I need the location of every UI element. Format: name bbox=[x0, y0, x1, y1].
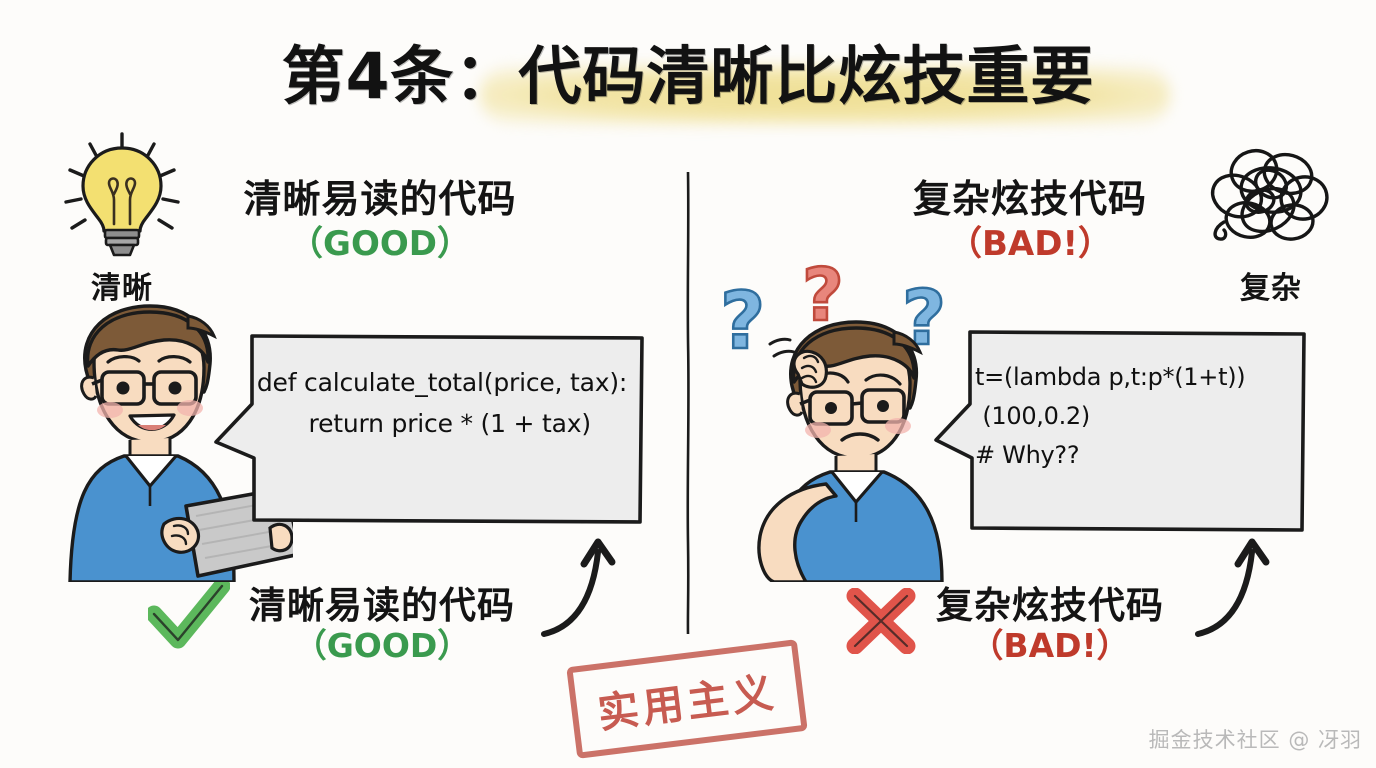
tangle-icon-caption: 复杂 bbox=[1196, 263, 1346, 307]
right-code-bubble-text: t=(lambda p,t:p*(1+t)) (100,0.2) # Why?? bbox=[975, 358, 1305, 475]
left-panel-heading: 清晰易读的代码 （GOOD） bbox=[170, 178, 590, 264]
curved-arrow-up-right-panel bbox=[1190, 536, 1280, 646]
left-bottom-caption: 清晰易读的代码 （GOOD） bbox=[212, 585, 552, 666]
question-mark-blue-left: ? bbox=[720, 277, 765, 367]
right-heading-zh: 复杂炫技代码 bbox=[840, 178, 1220, 222]
right-bottom-zh: 复杂炫技代码 bbox=[900, 585, 1200, 626]
left-bottom-tag: （GOOD） bbox=[212, 626, 552, 666]
center-divider bbox=[686, 172, 690, 634]
curved-arrow-up-left-panel bbox=[536, 536, 626, 646]
page-title: 第4条：代码清晰比炫技重要 bbox=[0, 26, 1376, 117]
stamp-label: 实用主义 bbox=[566, 639, 807, 759]
right-bottom-tag: （BAD!） bbox=[900, 626, 1200, 666]
watermark: 掘金技术社区 @ 冴羽 bbox=[1149, 724, 1362, 754]
infographic-canvas: 第4条：代码清晰比炫技重要 bbox=[0, 0, 1376, 768]
left-heading-zh: 清晰易读的代码 bbox=[170, 178, 590, 222]
pragmatism-stamp: 实用主义 bbox=[566, 639, 807, 759]
page-title-text: 第4条：代码清晰比炫技重要 bbox=[282, 26, 1095, 117]
left-code-bubble-text: def calculate_total(price, tax): return … bbox=[252, 362, 632, 445]
right-bottom-caption: 复杂炫技代码 （BAD!） bbox=[900, 585, 1200, 666]
left-bottom-zh: 清晰易读的代码 bbox=[212, 585, 552, 626]
svg-text:?: ? bbox=[720, 277, 765, 367]
left-heading-tag: （GOOD） bbox=[170, 224, 590, 265]
